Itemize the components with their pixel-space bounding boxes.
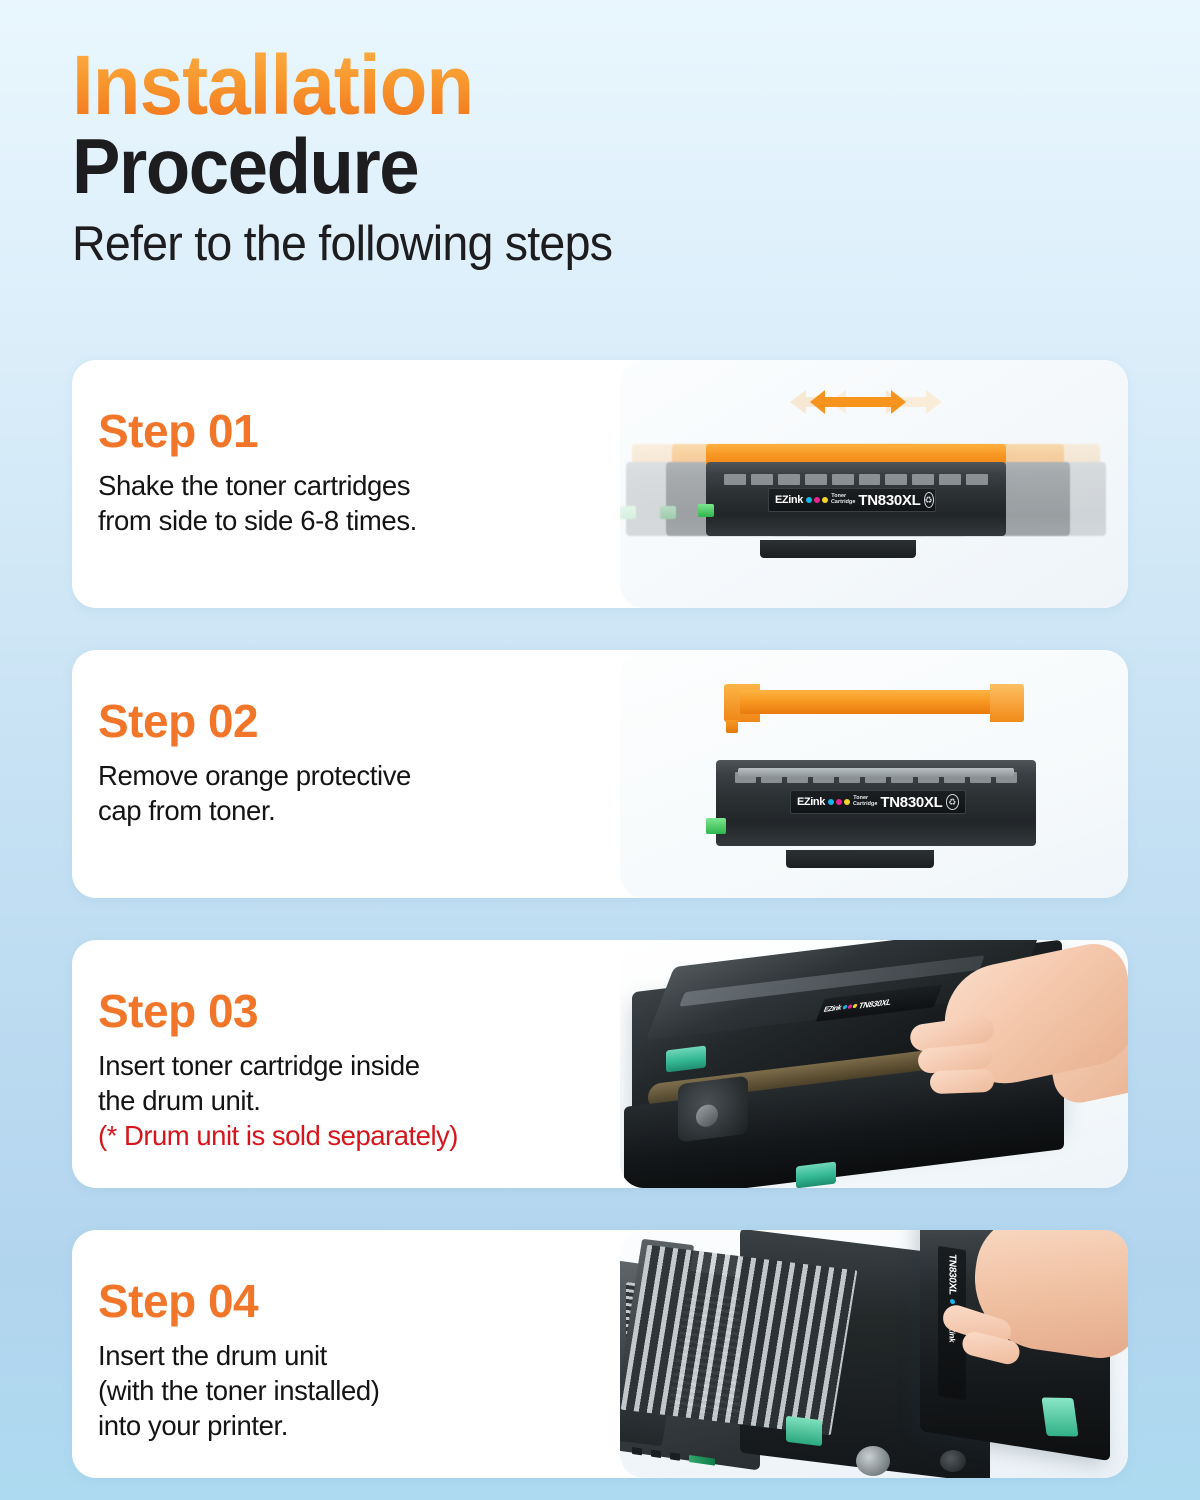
green-release-tab [698,504,714,517]
step-04-description: Insert the drum unit (with the toner ins… [98,1338,620,1444]
green-release-tab [706,818,726,834]
recycle-icon: ♻ [946,794,960,810]
hand [908,946,1128,1136]
cartridge-handle [786,850,933,868]
brand-name: EZink [797,796,825,808]
printer-green-button [689,1455,715,1466]
toner-cartridge-main: EZink TonerCartridge TN830XL ♻ [706,444,1006,544]
step-04-illustration: TN830XL EZink [620,1230,1128,1478]
drum-gear [678,1076,748,1143]
brand-name: EZink [775,494,803,506]
cartridge-model: TN830XL [880,794,942,811]
cartridge-model: TN830XL [857,997,893,1010]
removed-orange-cap [724,684,1024,722]
drum-teal-tab-right [1042,1397,1079,1436]
step-03-description: Insert toner cartridge inside the drum u… [98,1048,620,1118]
cartridge-label: EZink TonerCartridge TN830XL ♻ [790,790,966,814]
step-02-text: Step 02 Remove orange protective cap fro… [72,650,620,898]
drum-teal-tab-front [796,1162,836,1188]
cartridge-model: TN830XL [858,492,920,509]
step-02-label: Step 02 [98,698,620,744]
step-03-text: Step 03 Insert toner cartridge inside th… [72,940,620,1188]
cartridge-type: TonerCartridge [831,494,856,506]
step-04-label: Step 04 [98,1278,620,1324]
cartridge-label: EZink TonerCartridge TN830XL ♻ [768,488,936,512]
step-01-label: Step 01 [98,408,620,454]
printer-pin [940,1450,966,1472]
shake-arrow-icon [810,389,906,415]
printer-bay-fins [621,1245,858,1436]
step-card-03: Step 03 Insert toner cartridge inside th… [72,940,1128,1188]
brand-name: EZink [823,1004,843,1013]
cmyk-dots-icon [842,1004,858,1010]
cartridge-ribs [724,474,988,485]
page-title-secondary: Procedure [72,127,1121,207]
step-01-text: Step 01 Shake the toner cartridges from … [72,360,620,608]
printer-teal-tab-left [786,1416,822,1446]
page-header: Installation Procedure Refer to the foll… [0,0,1200,271]
page-title-primary: Installation [72,46,1121,125]
cmyk-dots-icon [828,799,850,805]
hand [934,1230,1128,1400]
step-card-04: Step 04 Insert the drum unit (with the t… [72,1230,1128,1478]
step-01-description: Shake the toner cartridges from side to … [98,468,620,538]
printer-roller-knob [856,1446,890,1476]
step-02-description: Remove orange protective cap from toner. [98,758,620,828]
cartridge-type: TonerCartridge [853,796,878,808]
recycle-icon: ♻ [924,492,934,508]
shake-arrow-group [796,382,936,422]
step-card-01: Step 01 Shake the toner cartridges from … [72,360,1128,608]
step-03-label: Step 03 [98,988,620,1034]
page-tagline: Refer to the following steps [72,217,1144,272]
finger-ring [930,1069,995,1094]
step-02-illustration: EZink TonerCartridge TN830XL ♻ [620,650,1128,898]
step-04-text: Step 04 Insert the drum unit (with the t… [72,1230,620,1478]
cmyk-dots-icon [806,497,828,503]
toner-cartridge-uncapped: EZink TonerCartridge TN830XL ♻ [716,754,1036,858]
step-card-02: Step 02 Remove orange protective cap fro… [72,650,1128,898]
cartridge-handle [760,540,916,558]
step-03-illustration: EZink TN830XL [620,940,1128,1188]
step-03-note: (* Drum unit is sold separately) [98,1118,620,1153]
steps-list: Step 01 Shake the toner cartridges from … [72,360,1128,1478]
step-01-illustration: EZink TonerCartridge TN830XL ♻ [620,360,1128,608]
cartridge-top-strip [738,768,1013,777]
